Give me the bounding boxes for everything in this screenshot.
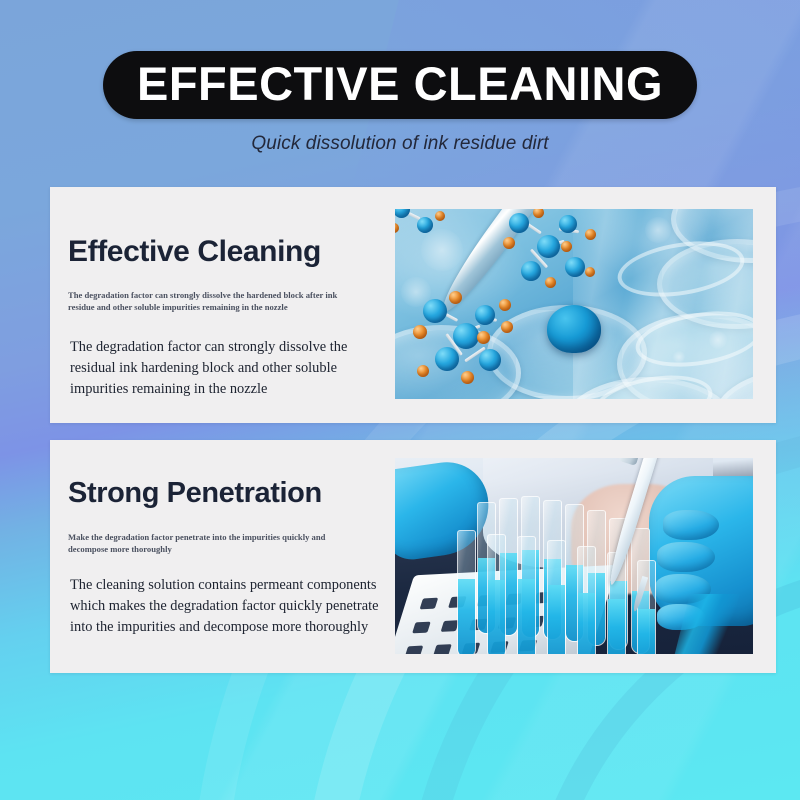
test-tube <box>547 540 566 654</box>
blue-droplet <box>547 305 601 353</box>
test-tube <box>487 534 506 654</box>
card-caption: The degradation factor can strongly diss… <box>68 290 358 314</box>
card-body-text: The degradation factor can strongly diss… <box>70 337 366 400</box>
test-tube <box>517 536 536 654</box>
test-tube <box>637 560 656 654</box>
glove-finger <box>657 542 715 572</box>
feature-card-effective-cleaning: Effective Cleaning The degradation facto… <box>50 187 776 423</box>
card-text-block: Strong Penetration Make the degradation … <box>68 440 388 673</box>
molecule-model <box>413 287 533 379</box>
card-heading: Strong Penetration <box>68 477 322 510</box>
bokeh-light <box>645 217 671 243</box>
card-image-well-plate <box>395 209 753 399</box>
molecule-model <box>503 209 613 291</box>
page-subtitle: Quick dissolution of ink residue dirt <box>0 133 800 155</box>
bokeh-light <box>709 331 727 349</box>
card-image-test-tubes <box>395 458 753 654</box>
card-caption: Make the degradation factor penetrate in… <box>68 532 358 556</box>
test-tube <box>457 530 476 654</box>
card-body-text: The cleaning solution contains permeant … <box>70 575 390 638</box>
molecule-model <box>395 209 451 243</box>
card-heading: Effective Cleaning <box>68 235 321 269</box>
test-tube <box>577 546 596 654</box>
page-header: EFFECTIVE CLEANING Quick dissolution of … <box>0 0 800 155</box>
glove-finger <box>663 510 719 540</box>
bokeh-light <box>673 351 685 363</box>
page-title: EFFECTIVE CLEANING <box>103 51 697 119</box>
feature-card-strong-penetration: Strong Penetration Make the degradation … <box>50 440 776 673</box>
card-text-block: Effective Cleaning The degradation facto… <box>68 187 388 423</box>
